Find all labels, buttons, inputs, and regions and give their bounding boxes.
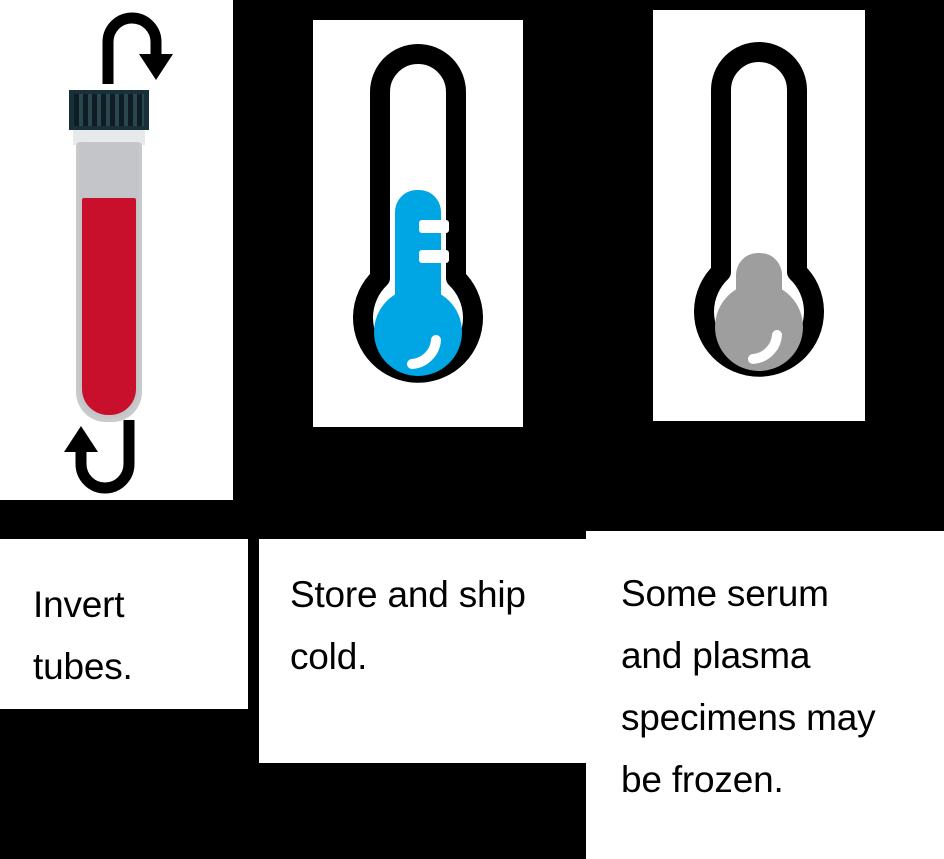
panel-frozen-specimens-image bbox=[653, 10, 865, 421]
caption-panel-frozen: Some serum and plasma specimens may be f… bbox=[586, 531, 944, 859]
caption-panel-invert: Invert tubes. bbox=[0, 539, 248, 709]
caption-frozen-text: Some serum and plasma specimens may be f… bbox=[586, 531, 944, 811]
thermometer-frozen-icon bbox=[675, 40, 843, 400]
panel-invert-tubes-image bbox=[0, 0, 233, 500]
tube-cap bbox=[69, 90, 149, 130]
blood-collection-tube-icon bbox=[0, 0, 233, 500]
caption-cold-text: Store and ship cold. bbox=[259, 539, 586, 688]
tube-glass-body bbox=[76, 142, 142, 422]
panel-store-cold-image bbox=[313, 20, 523, 427]
caption-invert-text: Invert tubes. bbox=[0, 539, 248, 698]
tube-blood-fill bbox=[82, 198, 136, 415]
tube-cap-ridges bbox=[74, 94, 144, 126]
rotate-arrow-up-icon bbox=[34, 420, 142, 500]
infographic-canvas: Invert tubes. Store and ship cold. Some … bbox=[0, 0, 944, 859]
thermometer-cold-icon bbox=[333, 42, 503, 407]
rotate-arrow-down-icon bbox=[95, 6, 203, 84]
caption-panel-cold: Store and ship cold. bbox=[259, 539, 586, 763]
